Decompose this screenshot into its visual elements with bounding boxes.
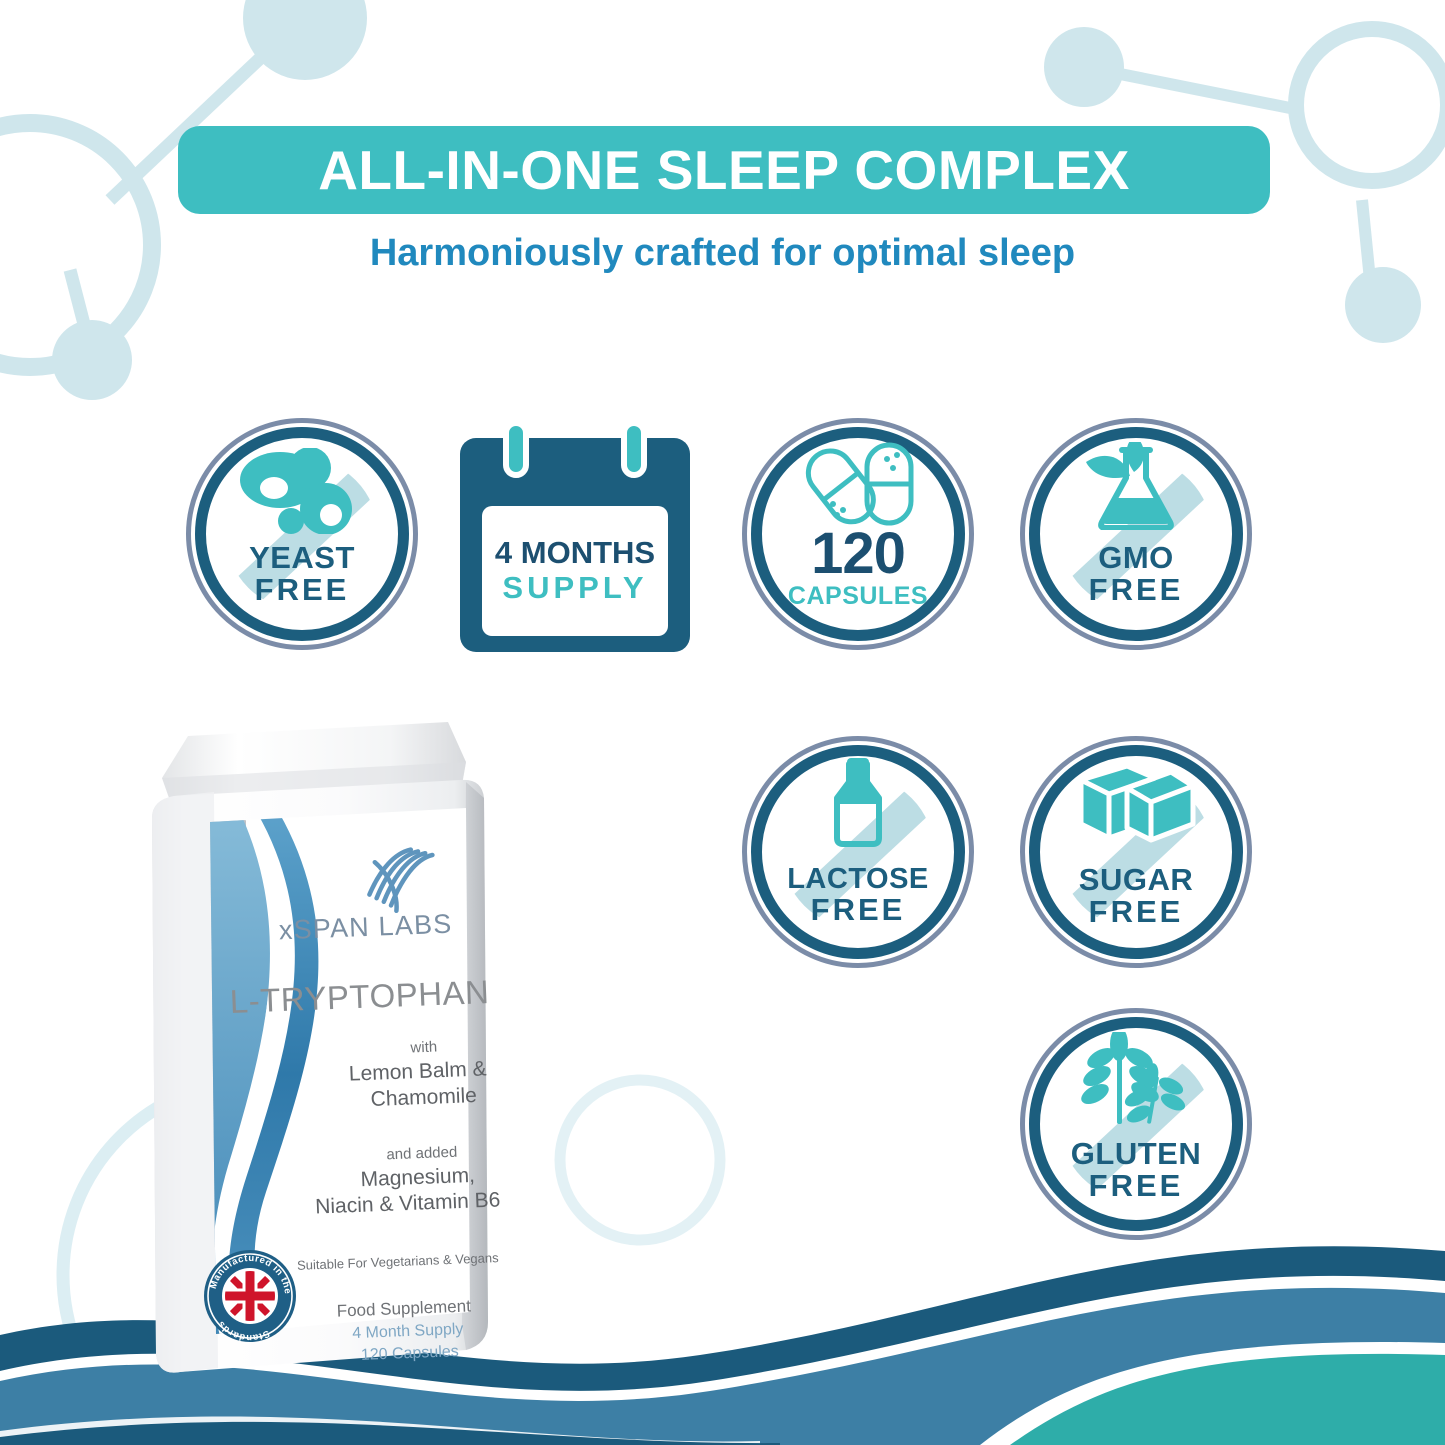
- badge-yeast-free: YEAST FREE: [186, 418, 418, 650]
- badge-label-line1: SUGAR: [1020, 864, 1252, 896]
- badge-lactose-free: LACTOSE FREE: [742, 736, 974, 968]
- with-line2: Chamomile: [370, 1084, 477, 1111]
- calendar-ring-left-icon: [503, 420, 529, 478]
- calendar-line2: SUPPLY: [502, 570, 647, 606]
- page-title-banner: ALL-IN-ONE SLEEP COMPLEX: [178, 126, 1270, 214]
- capsules-text: 120 Capsules: [361, 1343, 459, 1364]
- product-bottle: xSPAN LABS L-TRYPTOPHAN with Lemon Balm …: [118, 700, 558, 1400]
- badge-label-line1: YEAST: [186, 542, 418, 574]
- yeast-cells-icon: [186, 448, 418, 534]
- capsule-unit: CAPSULES: [742, 582, 974, 611]
- wheat-icon: [1020, 1032, 1252, 1128]
- badge-label-line1: LACTOSE: [742, 864, 974, 894]
- badge-label-line2: FREE: [1020, 574, 1252, 606]
- added-line1: Magnesium,: [360, 1164, 475, 1191]
- badge-months-supply: 4 MONTHS SUPPLY: [460, 420, 690, 652]
- badge-label-line1: GLUTEN: [1020, 1138, 1252, 1170]
- calendar-inner-panel: 4 MONTHS SUPPLY: [482, 506, 668, 636]
- badge-label-line2: FREE: [742, 894, 974, 926]
- calendar-ring-right-icon: [621, 420, 647, 478]
- capsules-icon: [742, 442, 974, 526]
- added-label: and added: [386, 1144, 458, 1164]
- sugar-cubes-icon: [1020, 762, 1252, 846]
- badge-label-yeast-free: YEAST FREE: [186, 542, 418, 606]
- badge-capsules: 120 CAPSULES: [742, 418, 974, 650]
- badge-label-capsules: 120 CAPSULES: [742, 526, 974, 611]
- union-jack-icon: [225, 1271, 275, 1321]
- badge-label-sugar-free: SUGAR FREE: [1020, 864, 1252, 928]
- capsule-count: 120: [742, 526, 974, 581]
- page-title: ALL-IN-ONE SLEEP COMPLEX: [318, 138, 1130, 202]
- badge-label-gmo-free: GMO FREE: [1020, 542, 1252, 606]
- with-label: with: [409, 1038, 437, 1056]
- badge-label-lactose-free: LACTOSE FREE: [742, 864, 974, 926]
- page-subtitle: Harmoniously crafted for optimal sleep: [0, 232, 1445, 275]
- product-infographic: ALL-IN-ONE SLEEP COMPLEX Harmoniously cr…: [0, 0, 1445, 1445]
- badge-gmo-free: GMO FREE: [1020, 418, 1252, 650]
- badge-label-line2: FREE: [186, 574, 418, 606]
- calendar-line1: 4 MONTHS: [495, 536, 655, 570]
- flask-leaf-icon: [1020, 442, 1252, 530]
- badge-label-line2: FREE: [1020, 896, 1252, 928]
- badge-sugar-free: SUGAR FREE: [1020, 736, 1252, 968]
- milk-bottle-icon: [742, 758, 974, 850]
- badge-label-line1: GMO: [1020, 542, 1252, 574]
